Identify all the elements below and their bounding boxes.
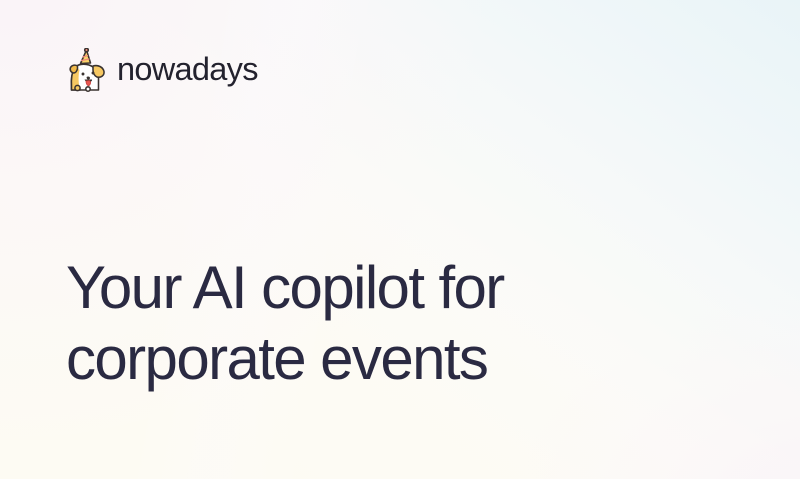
brand-logo[interactable]: nowadays <box>64 48 258 92</box>
hero-headline-line-1: Your AI copilot for <box>66 252 504 323</box>
hero-section: nowadays Your AI copilot for corporate e… <box>0 0 800 479</box>
brand-wordmark: nowadays <box>117 53 258 88</box>
hero-headline-line-2: corporate events <box>66 323 504 394</box>
dog-with-party-hat-icon <box>64 48 106 92</box>
hero-headline: Your AI copilot for corporate events <box>66 252 504 394</box>
